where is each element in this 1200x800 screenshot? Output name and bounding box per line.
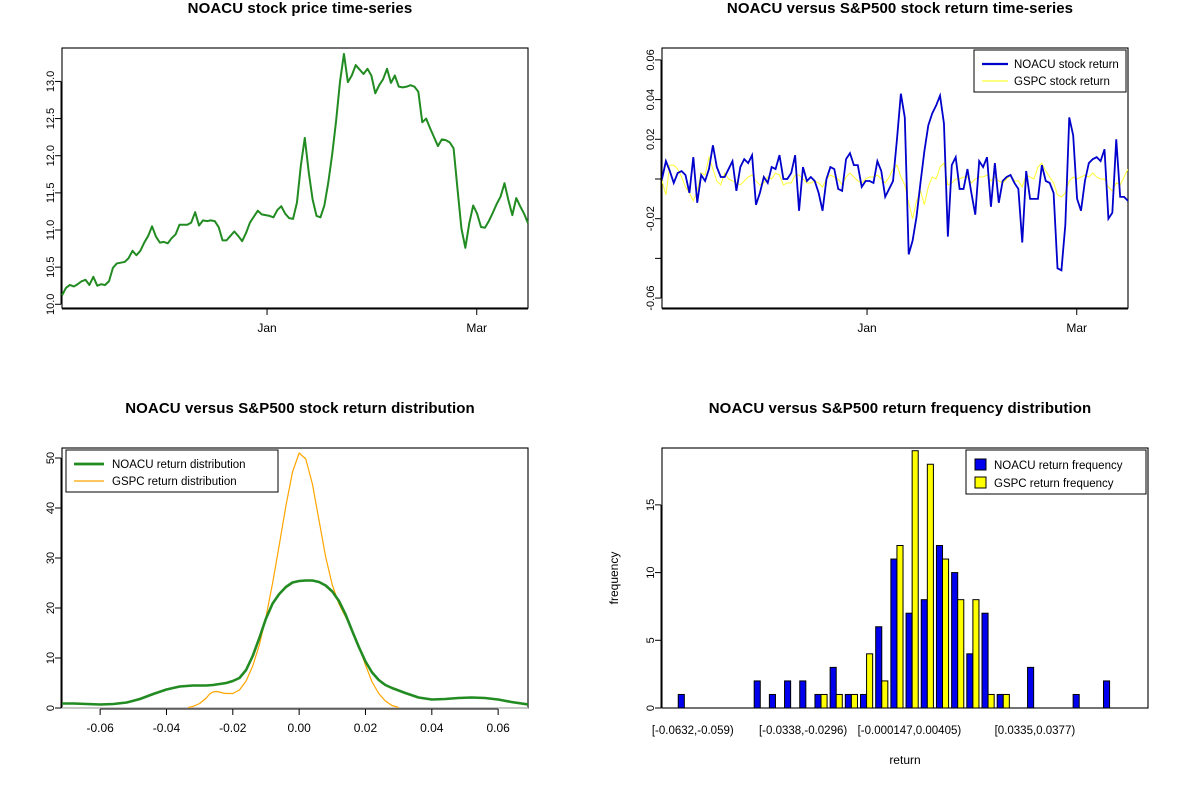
- histogram-bar-noacu: [769, 694, 775, 708]
- histogram-bar-noacu: [1073, 694, 1079, 708]
- histogram-bar-noacu: [815, 694, 821, 708]
- histogram-bar-noacu: [982, 613, 988, 708]
- price-y-tick-label: 11.0: [45, 220, 57, 241]
- returns-line-noacu: [662, 94, 1128, 271]
- histogram-x-tick-label: [0.0335,0.0377): [995, 725, 1076, 737]
- density-x-tick-label: 0.04: [420, 721, 444, 735]
- density-legend: NOACU return distributionGSPC return dis…: [66, 450, 278, 492]
- histogram-bar-noacu: [997, 694, 1003, 708]
- returns-y-tick-label: -0.02: [645, 206, 657, 231]
- histogram-bar-noacu: [845, 694, 851, 708]
- returns-legend-label: NOACU stock return: [1014, 59, 1119, 71]
- returns-y-tick-label: 0.04: [645, 89, 657, 110]
- density-plot-canvas: 01020304050-0.06-0.04-0.020.000.020.040.…: [0, 400, 600, 800]
- histogram-legend-label: GSPC return frequency: [994, 478, 1114, 490]
- density-y-tick-label: 50: [45, 452, 57, 464]
- panel-returns: NOACU versus S&P500 stock return time-se…: [600, 0, 1200, 400]
- returns-y-axis: -0.06-0.020.020.040.06: [645, 49, 661, 310]
- price-y-tick-label: 13.0: [45, 71, 57, 92]
- returns-x-tick-label: Mar: [1066, 321, 1087, 335]
- histogram-y-tick-label: 5: [645, 637, 657, 643]
- returns-plot-title: NOACU versus S&P500 stock return time-se…: [600, 0, 1200, 17]
- density-legend-label: GSPC return distribution: [112, 476, 237, 488]
- returns-x-tick-label: Jan: [857, 321, 876, 335]
- density-plot-title: NOACU versus S&P500 stock return distrib…: [0, 400, 600, 417]
- histogram-bar-noacu: [906, 613, 912, 708]
- returns-x-axis: JanMar: [662, 309, 1128, 335]
- histogram-bar-noacu: [876, 627, 882, 708]
- histogram-legend: NOACU return frequencyGSPC return freque…: [966, 450, 1146, 494]
- histogram-bar-noacu: [1104, 681, 1110, 708]
- density-y-tick-label: 0: [45, 705, 57, 711]
- histogram-bar-gspc: [851, 694, 857, 708]
- price-y-tick-label: 12.5: [45, 108, 57, 129]
- price-y-axis: 10.010.511.011.512.012.513.0: [45, 71, 61, 315]
- histogram-bar-gspc: [1003, 694, 1009, 708]
- density-line-noacu: [62, 581, 528, 705]
- density-y-tick-label: 40: [45, 502, 57, 514]
- histogram-bar-noacu: [678, 694, 684, 708]
- price-x-tick-label: Jan: [257, 321, 276, 335]
- panel-density: NOACU versus S&P500 stock return distrib…: [0, 400, 600, 800]
- returns-legend-label: GSPC stock return: [1014, 76, 1110, 88]
- histogram-x-tick-label: [-0.0632,-0.059): [652, 725, 734, 737]
- histogram-bar-noacu: [861, 694, 867, 708]
- price-plot-canvas: 10.010.511.011.512.012.513.0JanMar: [0, 0, 600, 400]
- histogram-legend-label: NOACU return frequency: [994, 460, 1123, 472]
- histogram-y-tick-label: 0: [645, 705, 657, 711]
- histogram-bar-gspc: [973, 600, 979, 708]
- histogram-bar-noacu: [921, 600, 927, 708]
- panel-histogram: NOACU versus S&P500 return frequency dis…: [600, 400, 1200, 800]
- histogram-bar-noacu: [785, 681, 791, 708]
- returns-plot-canvas: -0.06-0.020.020.040.06JanMarNOACU stock …: [600, 0, 1200, 400]
- density-x-tick-label: 0.00: [287, 721, 311, 735]
- price-plot-title: NOACU stock price time-series: [0, 0, 600, 17]
- returns-legend: NOACU stock returnGSPC stock return: [974, 50, 1126, 92]
- histogram-plot-title: NOACU versus S&P500 return frequency dis…: [600, 400, 1200, 417]
- histogram-bar-noacu: [830, 667, 836, 708]
- histogram-bar-gspc: [958, 600, 964, 708]
- histogram-plot-canvas: 051015frequency[-0.0632,-0.059)[-0.0338,…: [600, 400, 1200, 800]
- density-x-axis: -0.06-0.04-0.020.000.020.040.06: [86, 709, 510, 735]
- histogram-y-axis-label: frequency: [607, 552, 621, 605]
- density-x-tick-label: -0.04: [153, 721, 181, 735]
- histogram-x-tick-label: [-0.0338,-0.0296): [759, 725, 847, 737]
- histogram-bar-gspc: [927, 464, 933, 708]
- histogram-bar-noacu: [936, 546, 942, 709]
- histogram-bar-gspc: [882, 681, 888, 708]
- density-y-tick-label: 20: [45, 602, 57, 614]
- price-plot-box: [62, 48, 528, 308]
- histogram-bar-noacu: [754, 681, 760, 708]
- density-legend-label: NOACU return distribution: [112, 459, 246, 471]
- histogram-bar-gspc: [897, 546, 903, 709]
- histogram-y-tick-label: 15: [645, 499, 657, 511]
- histogram-bar-noacu: [952, 573, 958, 708]
- plot-grid: NOACU stock price time-series 10.010.511…: [0, 0, 1200, 800]
- price-y-tick-label: 10.5: [45, 256, 57, 277]
- histogram-bar-gspc: [867, 654, 873, 708]
- histogram-x-axis-label: return: [889, 753, 920, 767]
- histogram-bar-gspc: [912, 451, 918, 708]
- histogram-bar-noacu: [800, 681, 806, 708]
- density-y-tick-label: 30: [45, 552, 57, 564]
- histogram-bar-gspc: [988, 694, 994, 708]
- density-y-axis: 01020304050: [45, 452, 61, 711]
- price-y-tick-label: 12.0: [45, 145, 57, 166]
- density-y-tick-label: 10: [45, 652, 57, 664]
- histogram-x-tick-label: [-0.000147,0.00405): [858, 725, 962, 737]
- returns-y-tick-label: -0.06: [645, 286, 657, 311]
- histogram-bar-noacu: [1028, 667, 1034, 708]
- histogram-bar-gspc: [943, 559, 949, 708]
- histogram-bar-noacu: [891, 559, 897, 708]
- returns-y-tick-label: 0.06: [645, 49, 657, 70]
- price-y-tick-label: 11.5: [45, 183, 57, 204]
- histogram-bar-gspc: [821, 694, 827, 708]
- histogram-x-axis: [-0.0632,-0.059)[-0.0338,-0.0296)[-0.000…: [652, 725, 1075, 737]
- density-x-tick-label: 0.06: [486, 721, 510, 735]
- histogram-y-axis: 051015: [645, 499, 661, 711]
- density-x-tick-label: 0.02: [354, 721, 378, 735]
- price-line-noacu: [62, 54, 528, 295]
- density-x-tick-label: -0.02: [219, 721, 247, 735]
- returns-y-tick-label: 0.02: [645, 129, 657, 150]
- histogram-bar-noacu: [967, 654, 973, 708]
- density-x-tick-label: -0.06: [86, 721, 114, 735]
- price-y-tick-label: 10.0: [45, 294, 57, 315]
- panel-price: NOACU stock price time-series 10.010.511…: [0, 0, 600, 400]
- histogram-y-tick-label: 10: [645, 566, 657, 578]
- price-x-axis: JanMar: [62, 309, 528, 335]
- price-x-tick-label: Mar: [466, 321, 487, 335]
- histogram-bar-gspc: [836, 694, 842, 708]
